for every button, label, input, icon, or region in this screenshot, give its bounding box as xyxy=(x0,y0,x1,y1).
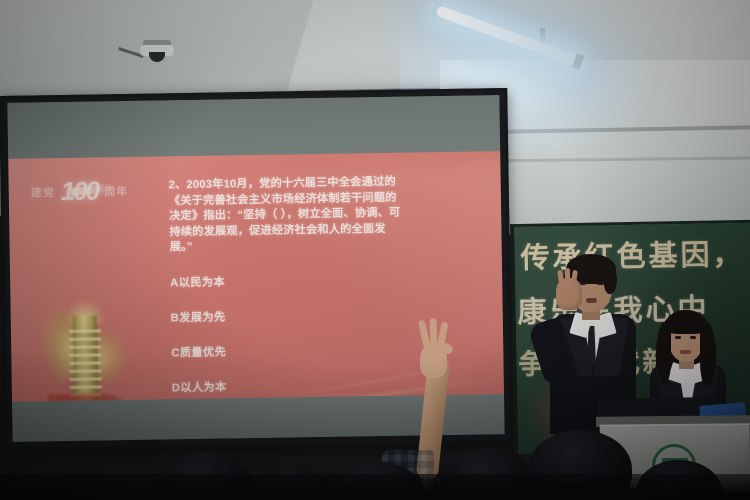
presenter-eye xyxy=(597,282,604,285)
dome-camera-icon xyxy=(140,40,174,62)
presenter-hair xyxy=(604,266,617,294)
camera-lens xyxy=(149,52,165,62)
presenter-eye xyxy=(675,336,681,339)
presenter-eye xyxy=(690,336,696,339)
classroom-scene: 建党 100 周年 xyxy=(0,0,750,500)
presenter-hair xyxy=(700,322,715,386)
foreground-shadow-bar xyxy=(0,474,750,500)
monument-artwork xyxy=(24,297,147,402)
presenter-mouth xyxy=(680,350,691,354)
presenter-hair xyxy=(657,322,671,384)
answer-option-a: A以民为本 xyxy=(170,271,484,291)
presenter-hand xyxy=(556,278,582,310)
presenter-mouth xyxy=(586,298,597,303)
slide-top-band xyxy=(7,95,500,159)
logo-left-text: 建党 xyxy=(31,184,55,200)
monument-rings xyxy=(69,329,103,401)
question-text: 2、2003年10月，党的十六届三中全会通过的 《关于完善社会主义市场经济体制若… xyxy=(169,173,484,255)
